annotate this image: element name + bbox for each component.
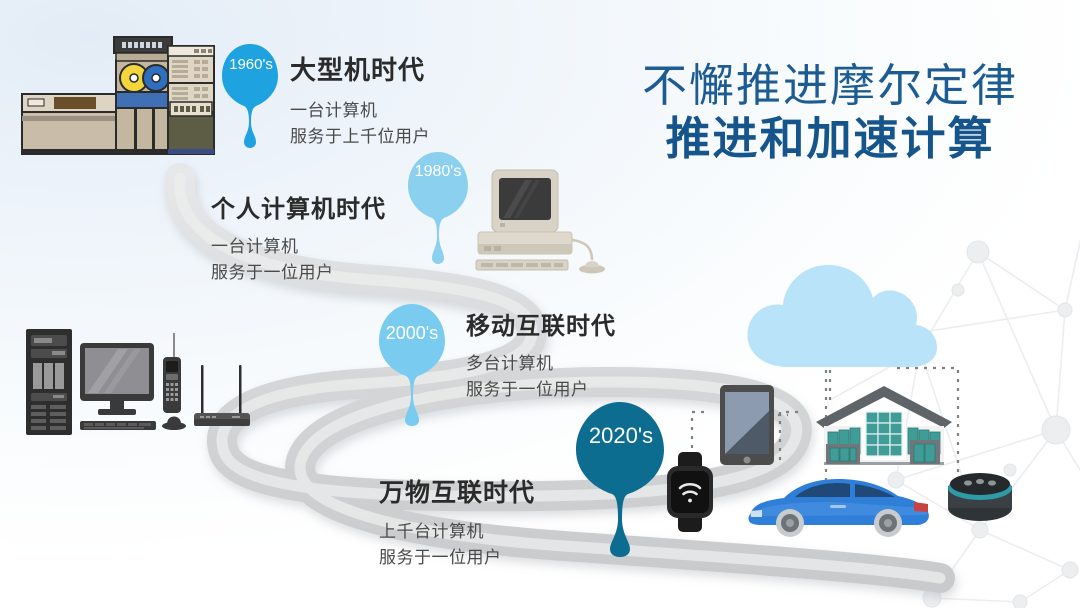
timeline-pin-2000s[interactable] (375, 300, 449, 428)
era-subline-2: 服务于一位用户 (466, 375, 616, 400)
tower-pc-phone-router-illustration (22, 325, 252, 450)
pin-label-2000s: 2000's (379, 323, 445, 344)
page-title: 不懈推进摩尔定律 推进和加速计算 (600, 62, 1060, 163)
title-line-1: 不懈推进摩尔定律 (600, 62, 1060, 111)
era-block-internet-of-things: 万物互联时代 上千台计算机 服务于一位用户 (379, 473, 535, 568)
era-heading-mobile-internet: 移动互联时代 (466, 306, 616, 341)
era-subline-2: 服务于一位用户 (211, 258, 386, 283)
retro-desktop-computer-illustration (470, 168, 620, 280)
tablet-icon (718, 383, 778, 467)
era-block-mobile-internet: 移动互联时代 多台计算机 服务于一位用户 (466, 306, 616, 400)
era-subtext-mobile-internet: 多台计算机 服务于一位用户 (466, 349, 616, 400)
era-subtext-personal-computer: 一台计算机 服务于一位用户 (211, 232, 386, 283)
era-block-mainframe: 大型机时代 一台计算机 服务于上千位用户 (290, 50, 430, 147)
era-subtext-internet-of-things: 上千台计算机 服务于一位用户 (379, 517, 535, 568)
title-line-2: 推进和加速计算 (600, 115, 1060, 164)
era-subline-1: 上千台计算机 (379, 517, 535, 542)
era-subline-2: 服务于上千位用户 (290, 122, 430, 147)
slide-canvas: 1960's 1980's 2000's 2020's 大型机时代 一台计算机 … (0, 0, 1080, 608)
era-block-personal-computer: 个人计算机时代 一台计算机 服务于一位用户 (211, 189, 386, 283)
pin-label-2020s: 2020's (581, 423, 661, 449)
era-heading-internet-of-things: 万物互联时代 (379, 473, 535, 509)
era-heading-mainframe: 大型机时代 (290, 50, 430, 87)
smartwatch-icon (662, 450, 718, 534)
pin-label-1980s: 1980's (410, 163, 466, 181)
pin-label-1960s: 1960's (225, 56, 277, 73)
car-icon (738, 470, 938, 540)
era-subtext-mainframe: 一台计算机 服务于上千位用户 (290, 96, 430, 147)
era-subline-1: 一台计算机 (211, 232, 386, 257)
cloud-icon (740, 255, 950, 375)
era-subline-1: 多台计算机 (466, 349, 616, 374)
smart-speaker-icon (944, 468, 1016, 524)
smart-house-icon (812, 382, 956, 466)
era-heading-personal-computer: 个人计算机时代 (211, 189, 386, 224)
era-subline-1: 一台计算机 (290, 96, 430, 121)
mainframe-computers-illustration (18, 16, 208, 156)
era-subline-2: 服务于一位用户 (379, 543, 535, 568)
